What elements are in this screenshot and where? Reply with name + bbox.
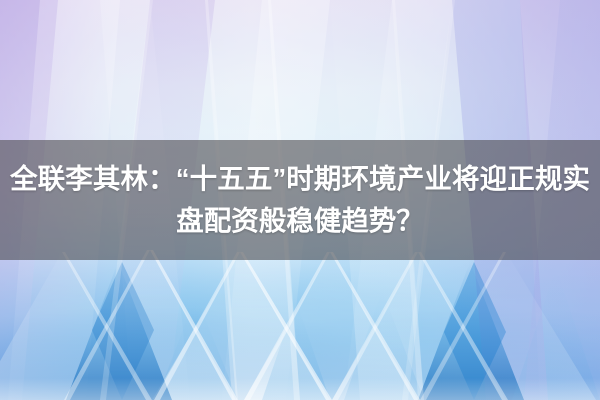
banner-image: 全联李其林：“十五五”时期环境产业将迎正规实 盘配资般稳健趋势？ xyxy=(0,0,600,400)
headline-line-1: 全联李其林：“十五五”时期环境产业将迎正规实 xyxy=(10,158,590,200)
headline-line-2: 盘配资般稳健趋势？ xyxy=(10,200,590,242)
headline-overlay-band: 全联李其林：“十五五”时期环境产业将迎正规实 盘配资般稳健趋势？ xyxy=(0,140,600,260)
page-title: 全联李其林：“十五五”时期环境产业将迎正规实 盘配资般稳健趋势？ xyxy=(10,158,590,242)
